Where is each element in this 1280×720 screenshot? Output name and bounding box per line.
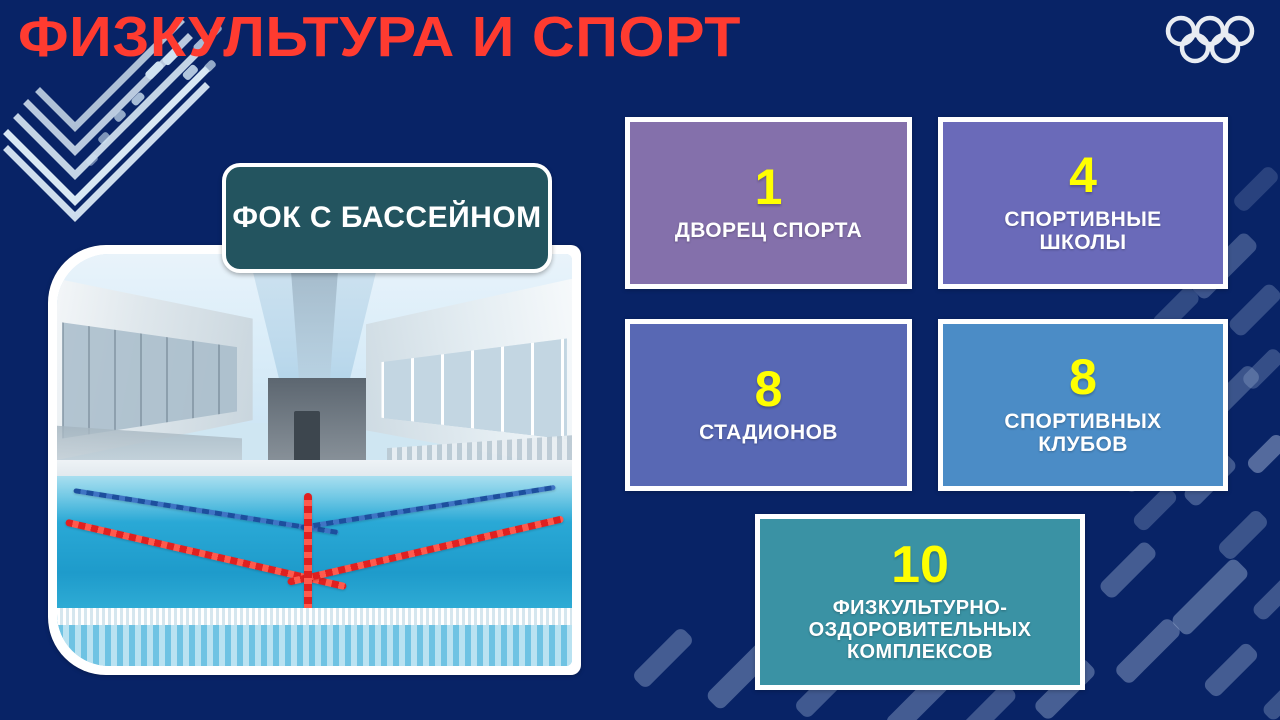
decorative-stripe xyxy=(1240,346,1280,391)
stat-label: ФИЗКУЛЬТУРНО-ОЗДОРОВИТЕЛЬНЫХКОМПЛЕКСОВ xyxy=(809,597,1032,663)
decorative-stripe xyxy=(1261,676,1280,720)
stat-card-fitness-complexes[interactable]: 10 ФИЗКУЛЬТУРНО-ОЗДОРОВИТЕЛЬНЫХКОМПЛЕКСО… xyxy=(755,514,1085,690)
pool-photo-frame xyxy=(48,245,581,675)
pool-caption-text: ФОК С БАССЕЙНОМ xyxy=(232,201,541,235)
decorative-stripe xyxy=(1202,641,1260,699)
stat-card-sports-palace[interactable]: 1 ДВОРЕЦ СПОРТА xyxy=(625,117,912,289)
stat-card-sports-clubs[interactable]: 8 СПОРТИВНЫХКЛУБОВ xyxy=(938,319,1228,491)
stat-value: 4 xyxy=(1069,152,1097,200)
pool-caption-badge: ФОК С БАССЕЙНОМ xyxy=(222,163,552,273)
stat-value: 8 xyxy=(755,366,783,414)
decorative-stripe xyxy=(1227,282,1280,339)
decorative-stripe xyxy=(1231,164,1280,213)
stat-label: СПОРТИВНЫХКЛУБОВ xyxy=(1004,410,1161,456)
decorative-stripe xyxy=(1216,508,1270,562)
stat-label: СПОРТИВНЫЕШКОЛЫ xyxy=(1004,208,1161,254)
decorative-stripe xyxy=(1251,576,1280,623)
decorative-stripe xyxy=(1170,557,1251,638)
olympic-rings-icon xyxy=(1164,12,1256,68)
decorative-stripe xyxy=(631,626,695,690)
stat-label: СТАДИОНОВ xyxy=(699,421,838,444)
pool-photo xyxy=(57,254,572,666)
page-title: ФИЗКУЛЬТУРА И СПОРТ xyxy=(18,4,741,70)
stat-value: 10 xyxy=(891,541,949,590)
stat-card-stadiums[interactable]: 8 СТАДИОНОВ xyxy=(625,319,912,491)
decorative-stripe xyxy=(1098,540,1159,601)
stat-label: ДВОРЕЦ СПОРТА xyxy=(675,219,862,242)
decorative-stripe xyxy=(1113,616,1182,685)
stat-value: 1 xyxy=(755,164,783,212)
stat-value: 8 xyxy=(1069,354,1097,402)
decorative-stripe xyxy=(1245,432,1280,476)
stat-card-sports-schools[interactable]: 4 СПОРТИВНЫЕШКОЛЫ xyxy=(938,117,1228,289)
decorative-stripe xyxy=(1131,485,1179,533)
